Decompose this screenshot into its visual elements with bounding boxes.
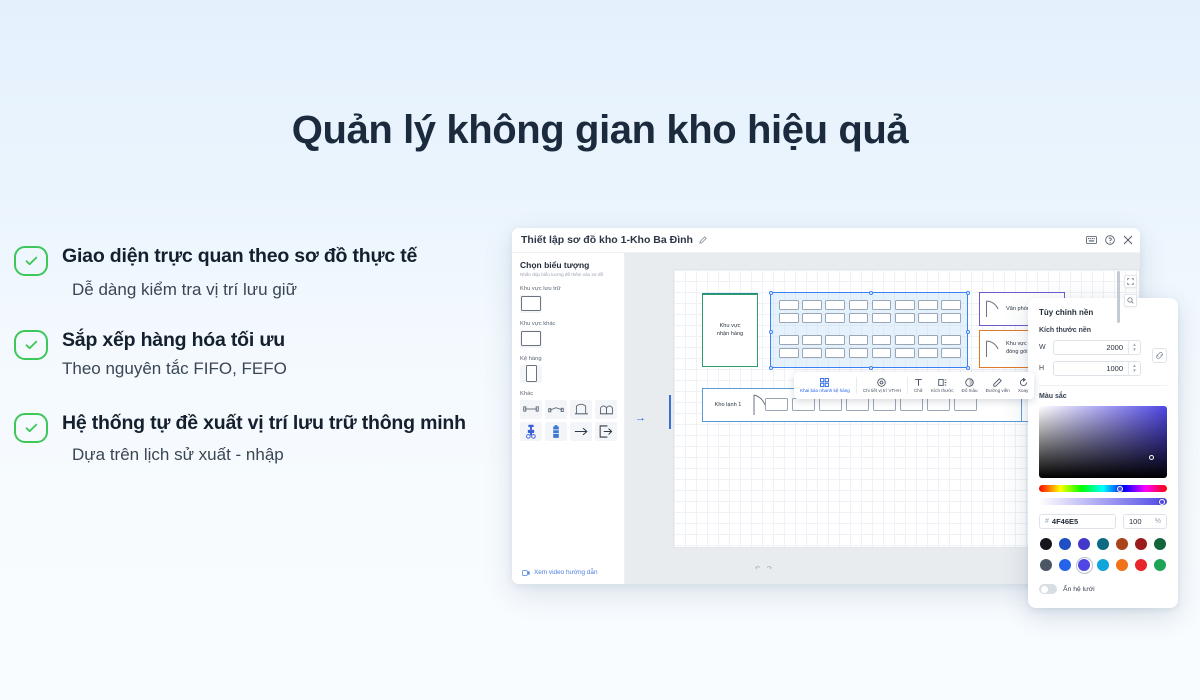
canvas-zoom-tools [1124,275,1137,307]
sidebar-group-label: Kệ hàng [520,356,616,362]
resize-handle[interactable] [769,291,773,295]
color-swatch[interactable] [1154,559,1166,571]
ruler-marker [669,395,671,429]
redo-icon[interactable]: ↷ [767,565,772,572]
canvas-scrollbar-vertical[interactable] [1117,271,1120,323]
undo-icon[interactable]: ↶ [755,565,760,572]
toolbar-label: Chi tiết vị trí VTHH [863,388,901,393]
tall-rect-outline-icon [526,365,537,382]
feature-subtitle: Dựa trên lịch sử xuất - nhập [72,444,514,467]
sidebar-heading: Chọn biểu tượng [520,260,616,270]
toolbar-btn-text[interactable]: Chữ [910,372,927,399]
door-swing-arc-icon[interactable] [570,400,592,419]
keyboard-icon[interactable] [1086,236,1097,244]
hue-slider[interactable] [1039,485,1167,492]
height-value: 1000 [1054,364,1128,373]
resize-handle[interactable] [769,330,773,334]
toolbar-label: Xoay [1018,388,1028,393]
pillar-icon[interactable] [545,422,567,441]
color-swatch[interactable] [1097,559,1109,571]
help-circle-icon[interactable] [1105,235,1115,245]
color-section-heading: Màu sắc [1039,393,1167,400]
color-swatch[interactable] [1059,538,1071,550]
toolbar-label: Đường viền [986,388,1010,393]
toolbar-label: Đổ màu [962,388,978,393]
resize-handle[interactable] [966,291,970,295]
saturation-handle[interactable] [1149,455,1154,460]
page-title: Quản lý không gian kho hiệu quả [0,108,1200,153]
text-icon [914,378,923,387]
color-swatch[interactable] [1097,538,1109,550]
hex-color-input[interactable]: # 4F46E5 [1039,514,1116,529]
height-stepper[interactable]: ▲▼ [1128,362,1140,375]
opacity-unit: % [1155,518,1161,525]
width-row: W 2000 ▲▼ [1039,340,1141,355]
video-play-icon [522,570,530,576]
toolbar-btn-location-detail[interactable]: Chi tiết vị trí VTHH [859,372,905,399]
color-swatch[interactable] [1059,559,1071,571]
video-guide-label: Xem video hướng dẫn [534,569,598,576]
receiving-zone-label-line1: Khu vực [720,323,741,329]
sidebar-group-label-other: Khác [520,391,616,397]
height-row: H 1000 ▲▼ [1039,361,1141,376]
hex-value: 4F46E5 [1052,517,1078,526]
hex-prefix: # [1045,518,1049,525]
sidebar-item-shelf[interactable] [520,365,542,383]
size-section-heading: Kích thước nền [1039,327,1167,334]
alpha-slider[interactable] [1039,498,1167,505]
width-value: 2000 [1054,343,1128,352]
sidebar-group-label: Khu vực lưu trữ [520,286,616,292]
canvas-object-receiving-zone[interactable]: Khu vực nhận hàng [702,294,758,367]
zoom-icon[interactable] [1124,294,1137,307]
door-swing-arc-icon [985,300,1001,318]
color-swatch[interactable] [1078,559,1090,571]
fit-screen-icon[interactable] [1124,275,1137,288]
toolbar-label: Kích thước [931,388,954,393]
feature-list: Giao diện trực quan theo sơ đồ thực tế D… [14,244,514,493]
shelf-row [779,348,961,358]
sidebar-group-label: Khu vực khác [520,321,616,327]
symbol-sidebar: Chọn biểu tượng Nhấn đúp biểu tượng để t… [512,253,625,584]
feature-subtitle: Dễ dàng kiểm tra vị trí lưu giữ [72,279,514,302]
color-swatch[interactable] [1040,559,1052,571]
color-swatch[interactable] [1116,538,1128,550]
shelf-row [779,300,961,310]
color-swatch[interactable] [1116,559,1128,571]
check-circle-icon [14,246,48,276]
app-titlebar: Thiết lập sơ đồ kho 1-Kho Ba Đình [512,228,1140,253]
object-context-toolbar: Khai báo nhanh kệ hàng Chi tiết vị trí V… [794,372,1034,399]
canvas-object-shelf-grid-selected[interactable] [770,292,968,368]
resize-handle[interactable] [966,330,970,334]
target-icon [877,378,886,387]
link-ratio-icon[interactable] [1152,348,1167,363]
color-swatches-row-2 [1039,559,1167,571]
height-input[interactable]: 1000 ▲▼ [1053,361,1141,376]
fill-color-icon [965,378,974,387]
sidebar-item-storage-zone[interactable] [520,295,542,313]
square-outline-icon [521,296,541,311]
check-circle-icon [14,330,48,360]
feature-subtitle: Theo nguyên tắc FIFO, FEFO [62,358,514,381]
toolbar-btn-border[interactable]: Đường viền [982,372,1014,399]
feature-title: Hệ thống tự đề xuất vị trí lưu trữ thông… [62,411,514,436]
shelf-row [779,335,961,345]
arrow-right-icon[interactable] [570,422,592,441]
sidebar-subtitle: Nhấn đúp biểu tượng để thêm vào sơ đồ [520,272,616,278]
opacity-value: 100 [1129,517,1142,526]
opacity-input[interactable]: 100 % [1123,514,1167,529]
window-controls [1086,235,1133,245]
cold-store-cells [765,398,977,411]
color-swatch[interactable] [1135,538,1147,550]
pencil-icon[interactable] [699,236,707,244]
arrow-right-marker-icon: → [635,413,646,424]
exit-door-icon[interactable] [595,422,617,441]
video-guide-link[interactable]: Xem video hướng dẫn [522,569,598,576]
feature-item: Hệ thống tự đề xuất vị trí lưu trữ thông… [14,411,514,467]
receiving-zone-label-line2: nhận hàng [717,331,743,337]
hide-grid-label: Ẩn hệ lưới [1063,586,1095,593]
feature-item: Giao diện trực quan theo sơ đồ thực tế D… [14,244,514,302]
packing-label-line1: Khu vực [1006,341,1027,347]
shelf-row [779,313,961,323]
square-outline-icon [521,331,541,346]
app-title: Thiết lập sơ đồ kho 1-Kho Ba Đình [521,234,693,246]
color-swatches-row-1 [1039,538,1167,550]
toolbar-label: Khai báo nhanh kệ hàng [800,388,850,393]
check-circle-icon [14,413,48,443]
resize-handle[interactable] [869,291,873,295]
background-settings-panel: Tùy chỉnh nền Kích thước nền W 2000 ▲▼ H… [1028,298,1178,608]
resize-icon [938,378,947,387]
color-swatch[interactable] [1135,559,1147,571]
width-input[interactable]: 2000 ▲▼ [1053,340,1141,355]
resize-handle[interactable] [966,366,970,370]
double-arc-icon[interactable] [595,400,617,419]
double-door-icon[interactable] [520,400,542,419]
width-label: W [1039,344,1047,351]
toolbar-btn-size[interactable]: Kích thước [927,372,958,399]
shelf-grid-icon [820,378,829,387]
color-swatch[interactable] [1154,538,1166,550]
feature-item: Sắp xếp hàng hóa tối ưu Theo nguyên tắc … [14,328,514,381]
forklift-icon[interactable] [520,422,542,441]
border-pen-icon [993,378,1002,387]
saturation-value-picker[interactable] [1039,406,1167,478]
toolbar-btn-rotate[interactable]: Xoay [1014,372,1032,399]
single-door-icon[interactable] [545,400,567,419]
color-swatch[interactable] [1040,538,1052,550]
panel-heading: Tùy chỉnh nền [1039,308,1167,317]
toolbar-btn-quick-shelf[interactable]: Khai báo nhanh kệ hàng [796,372,854,399]
packing-label-line2: đóng gói [1006,349,1027,355]
height-label: H [1039,365,1047,372]
canvas-mini-controls: ↶ ↷ [755,565,772,572]
alpha-slider-handle[interactable] [1159,499,1165,505]
hide-grid-toggle[interactable] [1039,584,1057,594]
feature-title: Sắp xếp hàng hóa tối ưu [62,328,514,353]
other-icon-grid [520,400,616,441]
hue-slider-handle[interactable] [1117,486,1123,492]
toolbar-btn-fill[interactable]: Đổ màu [958,372,982,399]
toolbar-label: Chữ [914,388,923,393]
resize-handle[interactable] [769,366,773,370]
door-swing-arc-icon [985,340,1001,358]
rotate-icon [1019,378,1028,387]
resize-handle[interactable] [869,366,873,370]
hide-grid-row[interactable]: Ẩn hệ lưới [1039,584,1167,594]
cold-store-1-label: Kho lạnh 1 [703,389,753,421]
width-stepper[interactable]: ▲▼ [1128,341,1140,354]
sidebar-item-other-zone[interactable] [520,330,542,348]
feature-title: Giao diện trực quan theo sơ đồ thực tế [62,244,514,269]
color-swatch[interactable] [1078,538,1090,550]
close-icon[interactable] [1123,235,1133,245]
